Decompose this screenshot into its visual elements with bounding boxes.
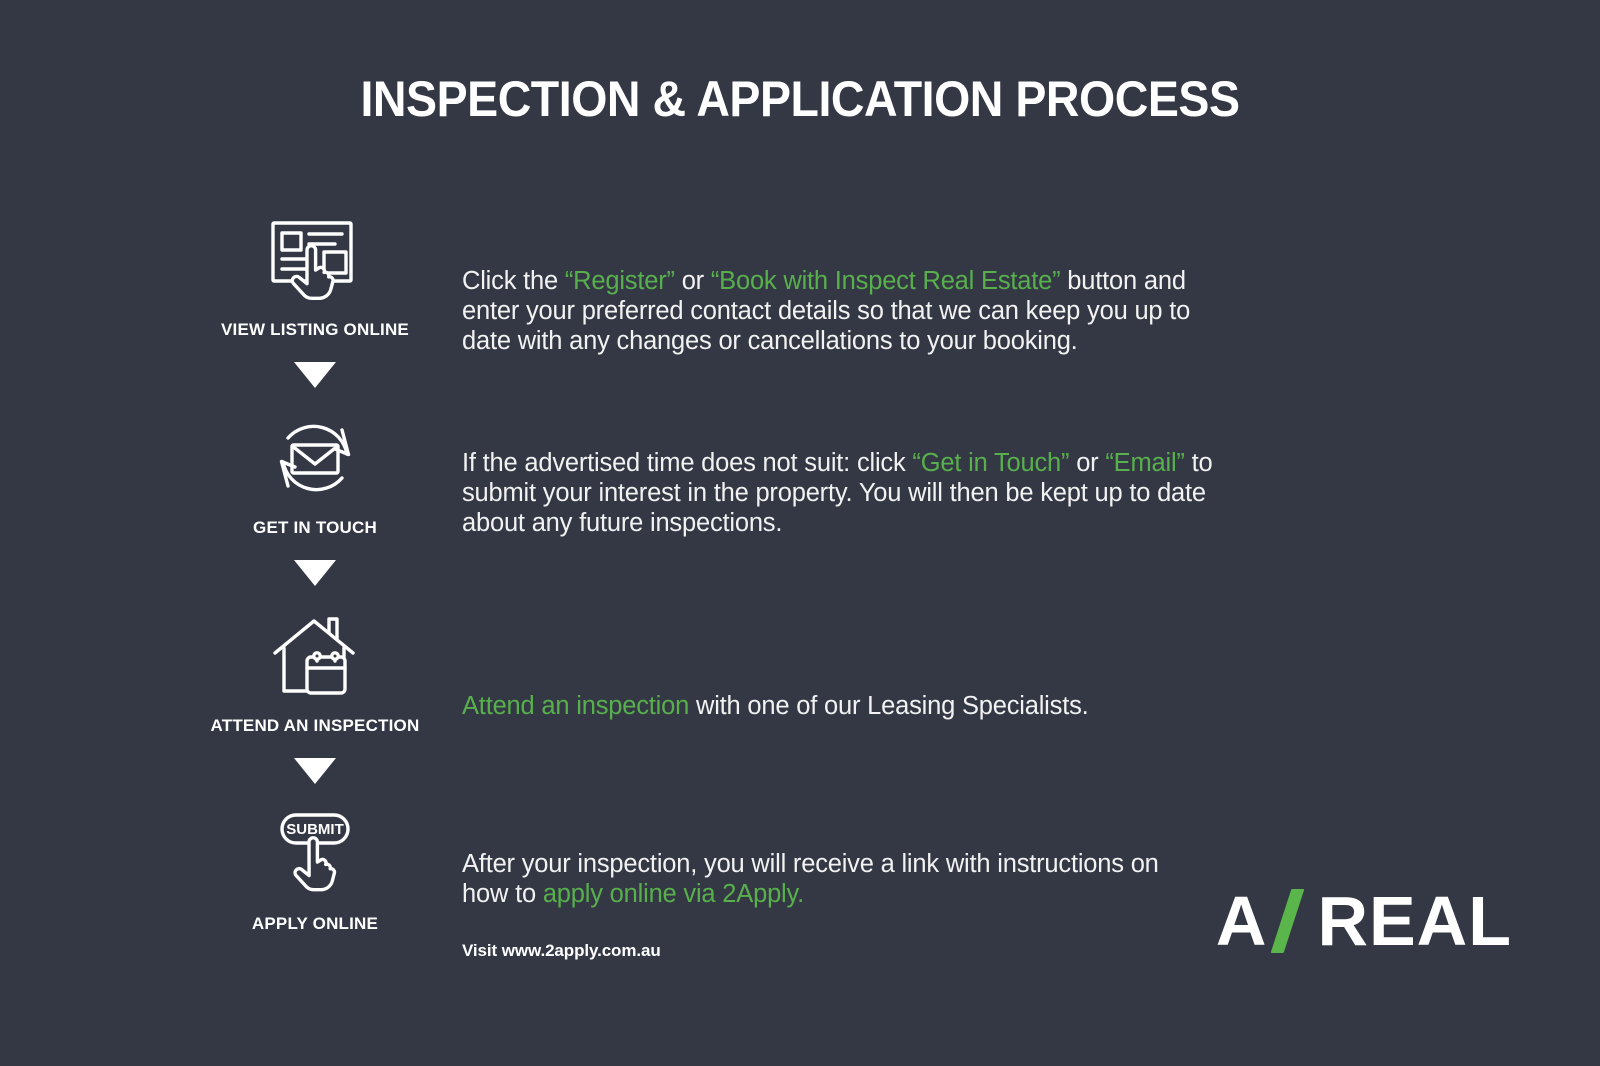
flow-step-attend-an-inspection: ATTEND AN INSPECTION (190, 608, 440, 736)
page-title: INSPECTION & APPLICATION PROCESS (56, 70, 1544, 128)
flow-step-get-in-touch: GET IN TOUCH (190, 410, 440, 538)
listing-window-hand-icon (260, 212, 370, 308)
brand-logo: A REAL (1216, 886, 1512, 956)
paragraph-2: If the advertised time does not suit: cl… (462, 448, 1222, 538)
highlight-attend-an-inspection: Attend an inspection (462, 692, 689, 720)
flow-step-label: ATTEND AN INSPECTION (211, 716, 420, 736)
step-description-get-in-touch: If the advertised time does not suit: cl… (462, 422, 1222, 563)
text-fragment: Click the (462, 267, 565, 295)
flow-step-apply-online: SUBMIT APPLY ONLINE (190, 806, 440, 934)
paragraph-4: After your inspection, you will receive … (462, 849, 1202, 909)
envelope-refresh-icon (260, 410, 370, 506)
green-slash-icon (1269, 889, 1315, 953)
text-fragment: or (1069, 449, 1105, 477)
house-calendar-icon (260, 608, 370, 704)
paragraph-1: Click the “Register” or “Book with Inspe… (462, 266, 1222, 356)
highlight-get-in-touch: “Get in Touch” (912, 449, 1069, 477)
paragraph-3: Attend an inspection with one of our Lea… (462, 691, 1222, 721)
visit-url-line: Visit www.2apply.com.au (462, 941, 1202, 961)
triangle-down-icon (190, 362, 440, 388)
highlight-apply-online-via-2apply: apply online via 2Apply. (543, 880, 804, 908)
process-flow-column: VIEW LISTING ONLINE GET IN TOUCH (190, 212, 440, 934)
text-fragment: or (675, 267, 711, 295)
flow-step-view-listing-online: VIEW LISTING ONLINE (190, 212, 440, 340)
submit-button-text: SUBMIT (286, 821, 344, 838)
flow-step-label: APPLY ONLINE (252, 914, 378, 934)
submit-button-hand-icon: SUBMIT (260, 806, 370, 902)
triangle-down-icon (190, 560, 440, 586)
step-description-attend-an-inspection: Attend an inspection with one of our Lea… (462, 665, 1222, 746)
flow-step-label: VIEW LISTING ONLINE (221, 320, 409, 340)
highlight-register: “Register” (565, 267, 675, 295)
logo-text-real: REAL (1317, 886, 1512, 956)
text-fragment: If the advertised time does not suit: cl… (462, 449, 912, 477)
highlight-email: “Email” (1105, 449, 1184, 477)
highlight-book-with-inspect-real-estate: “Book with Inspect Real Estate” (711, 267, 1061, 295)
triangle-down-icon (190, 758, 440, 784)
step-description-view-listing-online: Click the “Register” or “Book with Inspe… (462, 240, 1222, 381)
text-fragment: with one of our Leasing Specialists. (689, 692, 1088, 720)
flow-step-label: GET IN TOUCH (253, 518, 377, 538)
step-description-apply-online: After your inspection, you will receive … (462, 823, 1202, 961)
logo-text-a: A (1216, 886, 1268, 956)
